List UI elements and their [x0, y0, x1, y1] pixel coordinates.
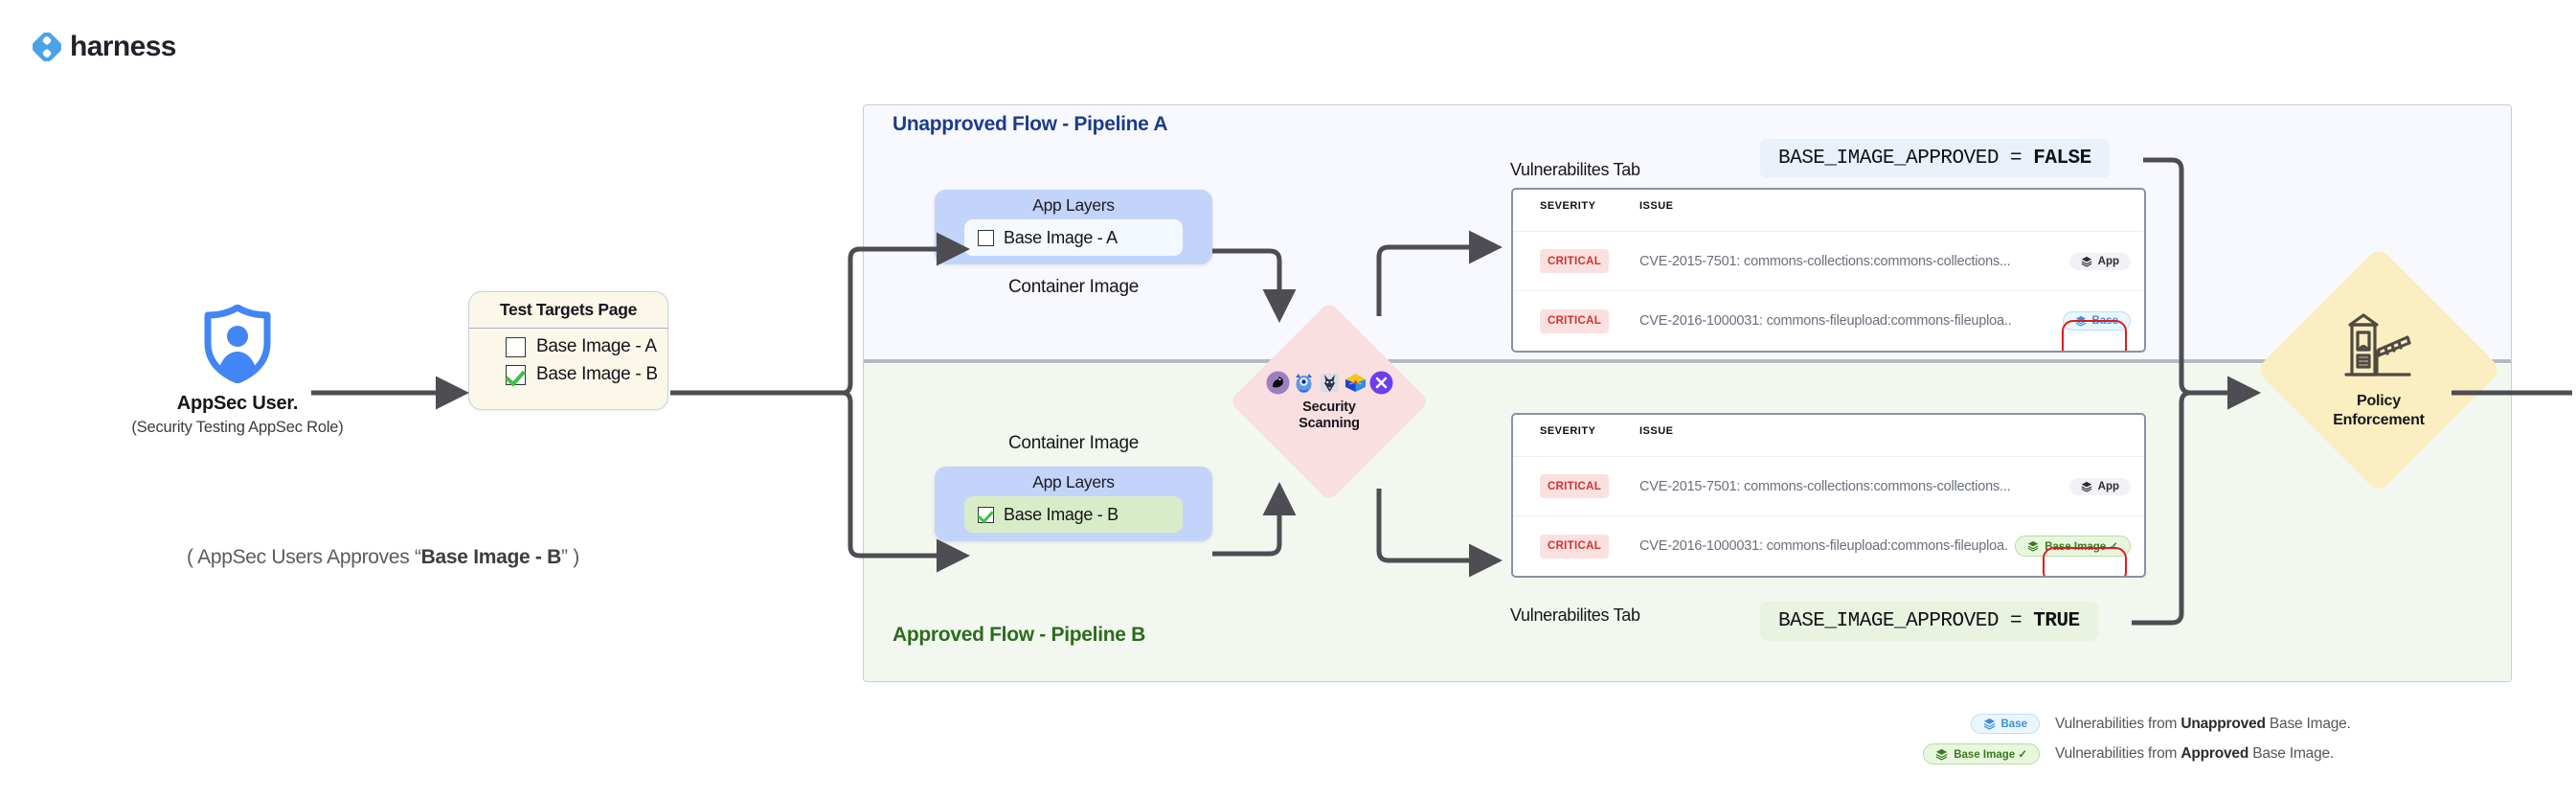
layer-tag-label: App: [2098, 256, 2119, 267]
layers-icon: [2081, 256, 2092, 267]
status-badge: CRITICAL: [1540, 474, 1609, 498]
table-row[interactable]: CRITICAL CVE-2015-7501: commons-collecti…: [1513, 457, 2144, 516]
caption-bold: Base Image - B: [421, 546, 561, 568]
target-item-base-image-a[interactable]: Base Image - A: [506, 336, 667, 357]
callout-value: FALSE: [2033, 148, 2091, 170]
column-header-severity: SEVERITY: [1540, 200, 1639, 212]
issue-text: CVE-2016-1000031: commons-fileupload:com…: [1639, 313, 2012, 329]
base-image-chip-a[interactable]: Base Image - A: [964, 219, 1183, 256]
checkbox-unchecked-icon[interactable]: [978, 230, 994, 246]
layers-icon: [2075, 315, 2087, 327]
app-layers-box-a: App Layers Base Image - A: [935, 190, 1212, 264]
app-layers-label: App Layers: [935, 472, 1212, 492]
test-targets-card[interactable]: Test Targets Page Base Image - A Base Im…: [468, 291, 668, 410]
purple-x-icon: [1369, 371, 1393, 395]
legend-row-approved: Base Image ✓ Vulnerabilities from Approv…: [1915, 743, 2351, 765]
container-image-label-a: Container Image: [935, 277, 1212, 298]
layer-tag-base[interactable]: Base: [2063, 311, 2132, 331]
security-scanning-node: Security Scanning: [1233, 306, 1425, 497]
issue-text: CVE-2015-7501: commons-collections:commo…: [1639, 479, 2011, 494]
caption-suffix: ” ): [561, 546, 579, 568]
callout-variable: BASE_IMAGE_APPROVED =: [1778, 148, 2033, 170]
policy-enforcement-node: Policy Enforcement: [2260, 251, 2497, 489]
legend-text: Vulnerabilities from Unapproved Base Ima…: [2055, 716, 2351, 733]
app-layers-box-b: App Layers Base Image - B: [935, 467, 1212, 541]
appsec-user-subtitle: (Security Testing AppSec Role): [113, 419, 362, 437]
legend-text-bold: Unapproved: [2181, 716, 2265, 732]
table-header-row: SEVERITY ISSUE: [1513, 190, 2144, 232]
legend-text-prefix: Vulnerabilities from: [2055, 745, 2181, 762]
base-image-label: Base Image - B: [1004, 505, 1119, 525]
layers-icon: [1983, 718, 1996, 730]
issue-text: CVE-2016-1000031: commons-fileupload:com…: [1639, 538, 2008, 554]
security-scanning-label: Security Scanning: [1299, 399, 1360, 432]
approved-flow-title: Approved Flow - Pipeline B: [893, 624, 1145, 647]
scanning-label-line1: Security: [1299, 399, 1360, 416]
legend-tag-base: Base: [1971, 714, 2041, 734]
harness-logo: harness: [33, 31, 176, 63]
legend-text-bold: Approved: [2181, 745, 2248, 762]
legend-text-suffix: Base Image.: [2266, 716, 2351, 732]
layers-icon: [1935, 748, 1948, 761]
table-row[interactable]: CRITICAL CVE-2015-7501: commons-collecti…: [1513, 232, 2144, 291]
base-image-chip-b[interactable]: Base Image - B: [964, 496, 1183, 533]
layers-icon: [2081, 481, 2092, 492]
unapproved-flow-title: Unapproved Flow - Pipeline A: [893, 113, 1167, 136]
legend-text: Vulnerabilities from Approved Base Image…: [2055, 745, 2334, 763]
policy-label-line1: Policy: [2333, 392, 2425, 411]
appsec-user-block: AppSec User. (Security Testing AppSec Ro…: [113, 305, 362, 437]
base-image-approved-false-callout: BASE_IMAGE_APPROVED = FALSE: [1760, 139, 2110, 178]
column-header-issue: ISSUE: [1639, 200, 1674, 212]
vulnerabilities-table-a[interactable]: SEVERITY ISSUE CRITICAL CVE-2015-7501: c…: [1511, 188, 2146, 353]
shield-user-icon: [202, 305, 273, 383]
approval-caption: ( AppSec Users Approves “Base Image - B”…: [96, 546, 670, 569]
status-badge: CRITICAL: [1540, 309, 1609, 333]
layers-icon: [2027, 540, 2039, 552]
layer-tag-app[interactable]: App: [2069, 478, 2131, 495]
checkbox-unchecked-icon[interactable]: [506, 337, 526, 357]
policy-enforcement-label: Policy Enforcement: [2333, 392, 2425, 430]
status-badge: CRITICAL: [1540, 249, 1609, 273]
container-image-label-b: Container Image: [935, 433, 1212, 454]
harness-diamond-logo-icon: [33, 33, 61, 61]
column-header-issue: ISSUE: [1639, 425, 1674, 437]
appsec-user-title: AppSec User.: [113, 393, 362, 415]
policy-label-line2: Enforcement: [2333, 411, 2425, 430]
scanning-label-line2: Scanning: [1299, 416, 1360, 432]
checkbox-checked-icon[interactable]: [506, 365, 526, 385]
layer-tag-label: App: [2098, 481, 2119, 492]
layer-tag-base-image[interactable]: Base Image ✓: [2015, 536, 2131, 557]
anchore-cube-icon: [1344, 371, 1367, 395]
status-badge: CRITICAL: [1540, 535, 1609, 559]
legend: Base Vulnerabilities from Unapproved Bas…: [1915, 714, 2351, 765]
checkpoint-gate-icon: [2335, 309, 2423, 388]
base-image-approved-true-callout: BASE_IMAGE_APPROVED = TRUE: [1760, 602, 2098, 641]
app-layers-label: App Layers: [935, 195, 1212, 216]
layer-tag-app[interactable]: App: [2069, 253, 2131, 270]
legend-tag-base-image: Base Image ✓: [1923, 743, 2040, 765]
vulnerabilities-tab-label-a: Vulnerabilites Tab: [1510, 160, 1640, 180]
callout-value: TRUE: [2033, 610, 2079, 632]
vulnerabilities-table-b[interactable]: SEVERITY ISSUE CRITICAL CVE-2015-7501: c…: [1511, 413, 2146, 578]
legend-text-prefix: Vulnerabilities from: [2055, 716, 2181, 732]
scanner-tool-icons: [1266, 371, 1393, 395]
caption-prefix: ( AppSec Users Approves “: [187, 546, 421, 568]
legend-text-suffix: Base Image.: [2248, 745, 2334, 762]
black-duck-icon: [1266, 371, 1290, 395]
column-header-severity: SEVERITY: [1540, 425, 1639, 437]
base-image-label: Base Image - A: [1004, 228, 1118, 248]
target-item-label: Base Image - A: [536, 336, 657, 357]
layer-tag-label: Base Image ✓: [2045, 539, 2118, 553]
harness-wordmark: harness: [70, 31, 176, 63]
table-row[interactable]: CRITICAL CVE-2016-1000031: commons-fileu…: [1513, 516, 2144, 576]
test-targets-title: Test Targets Page: [469, 292, 667, 329]
legend-tag-label: Base: [2001, 719, 2028, 730]
table-row[interactable]: CRITICAL CVE-2016-1000031: commons-fileu…: [1513, 291, 2144, 351]
callout-variable: BASE_IMAGE_APPROVED =: [1778, 610, 2033, 632]
vulnerabilities-tab-label-b: Vulnerabilites Tab: [1510, 605, 1640, 626]
snyk-monster-icon: [1292, 371, 1316, 395]
layer-tag-label: Base: [2092, 315, 2119, 327]
target-item-label: Base Image - B: [536, 364, 658, 385]
target-item-base-image-b[interactable]: Base Image - B: [506, 364, 667, 385]
legend-tag-label: Base Image ✓: [1954, 747, 2027, 761]
issue-text: CVE-2015-7501: commons-collections:commo…: [1639, 254, 2011, 269]
checkbox-checked-icon[interactable]: [978, 507, 994, 523]
legend-row-unapproved: Base Vulnerabilities from Unapproved Bas…: [1915, 714, 2351, 734]
aqua-doberman-icon: [1318, 371, 1342, 395]
table-header-row: SEVERITY ISSUE: [1513, 415, 2144, 457]
